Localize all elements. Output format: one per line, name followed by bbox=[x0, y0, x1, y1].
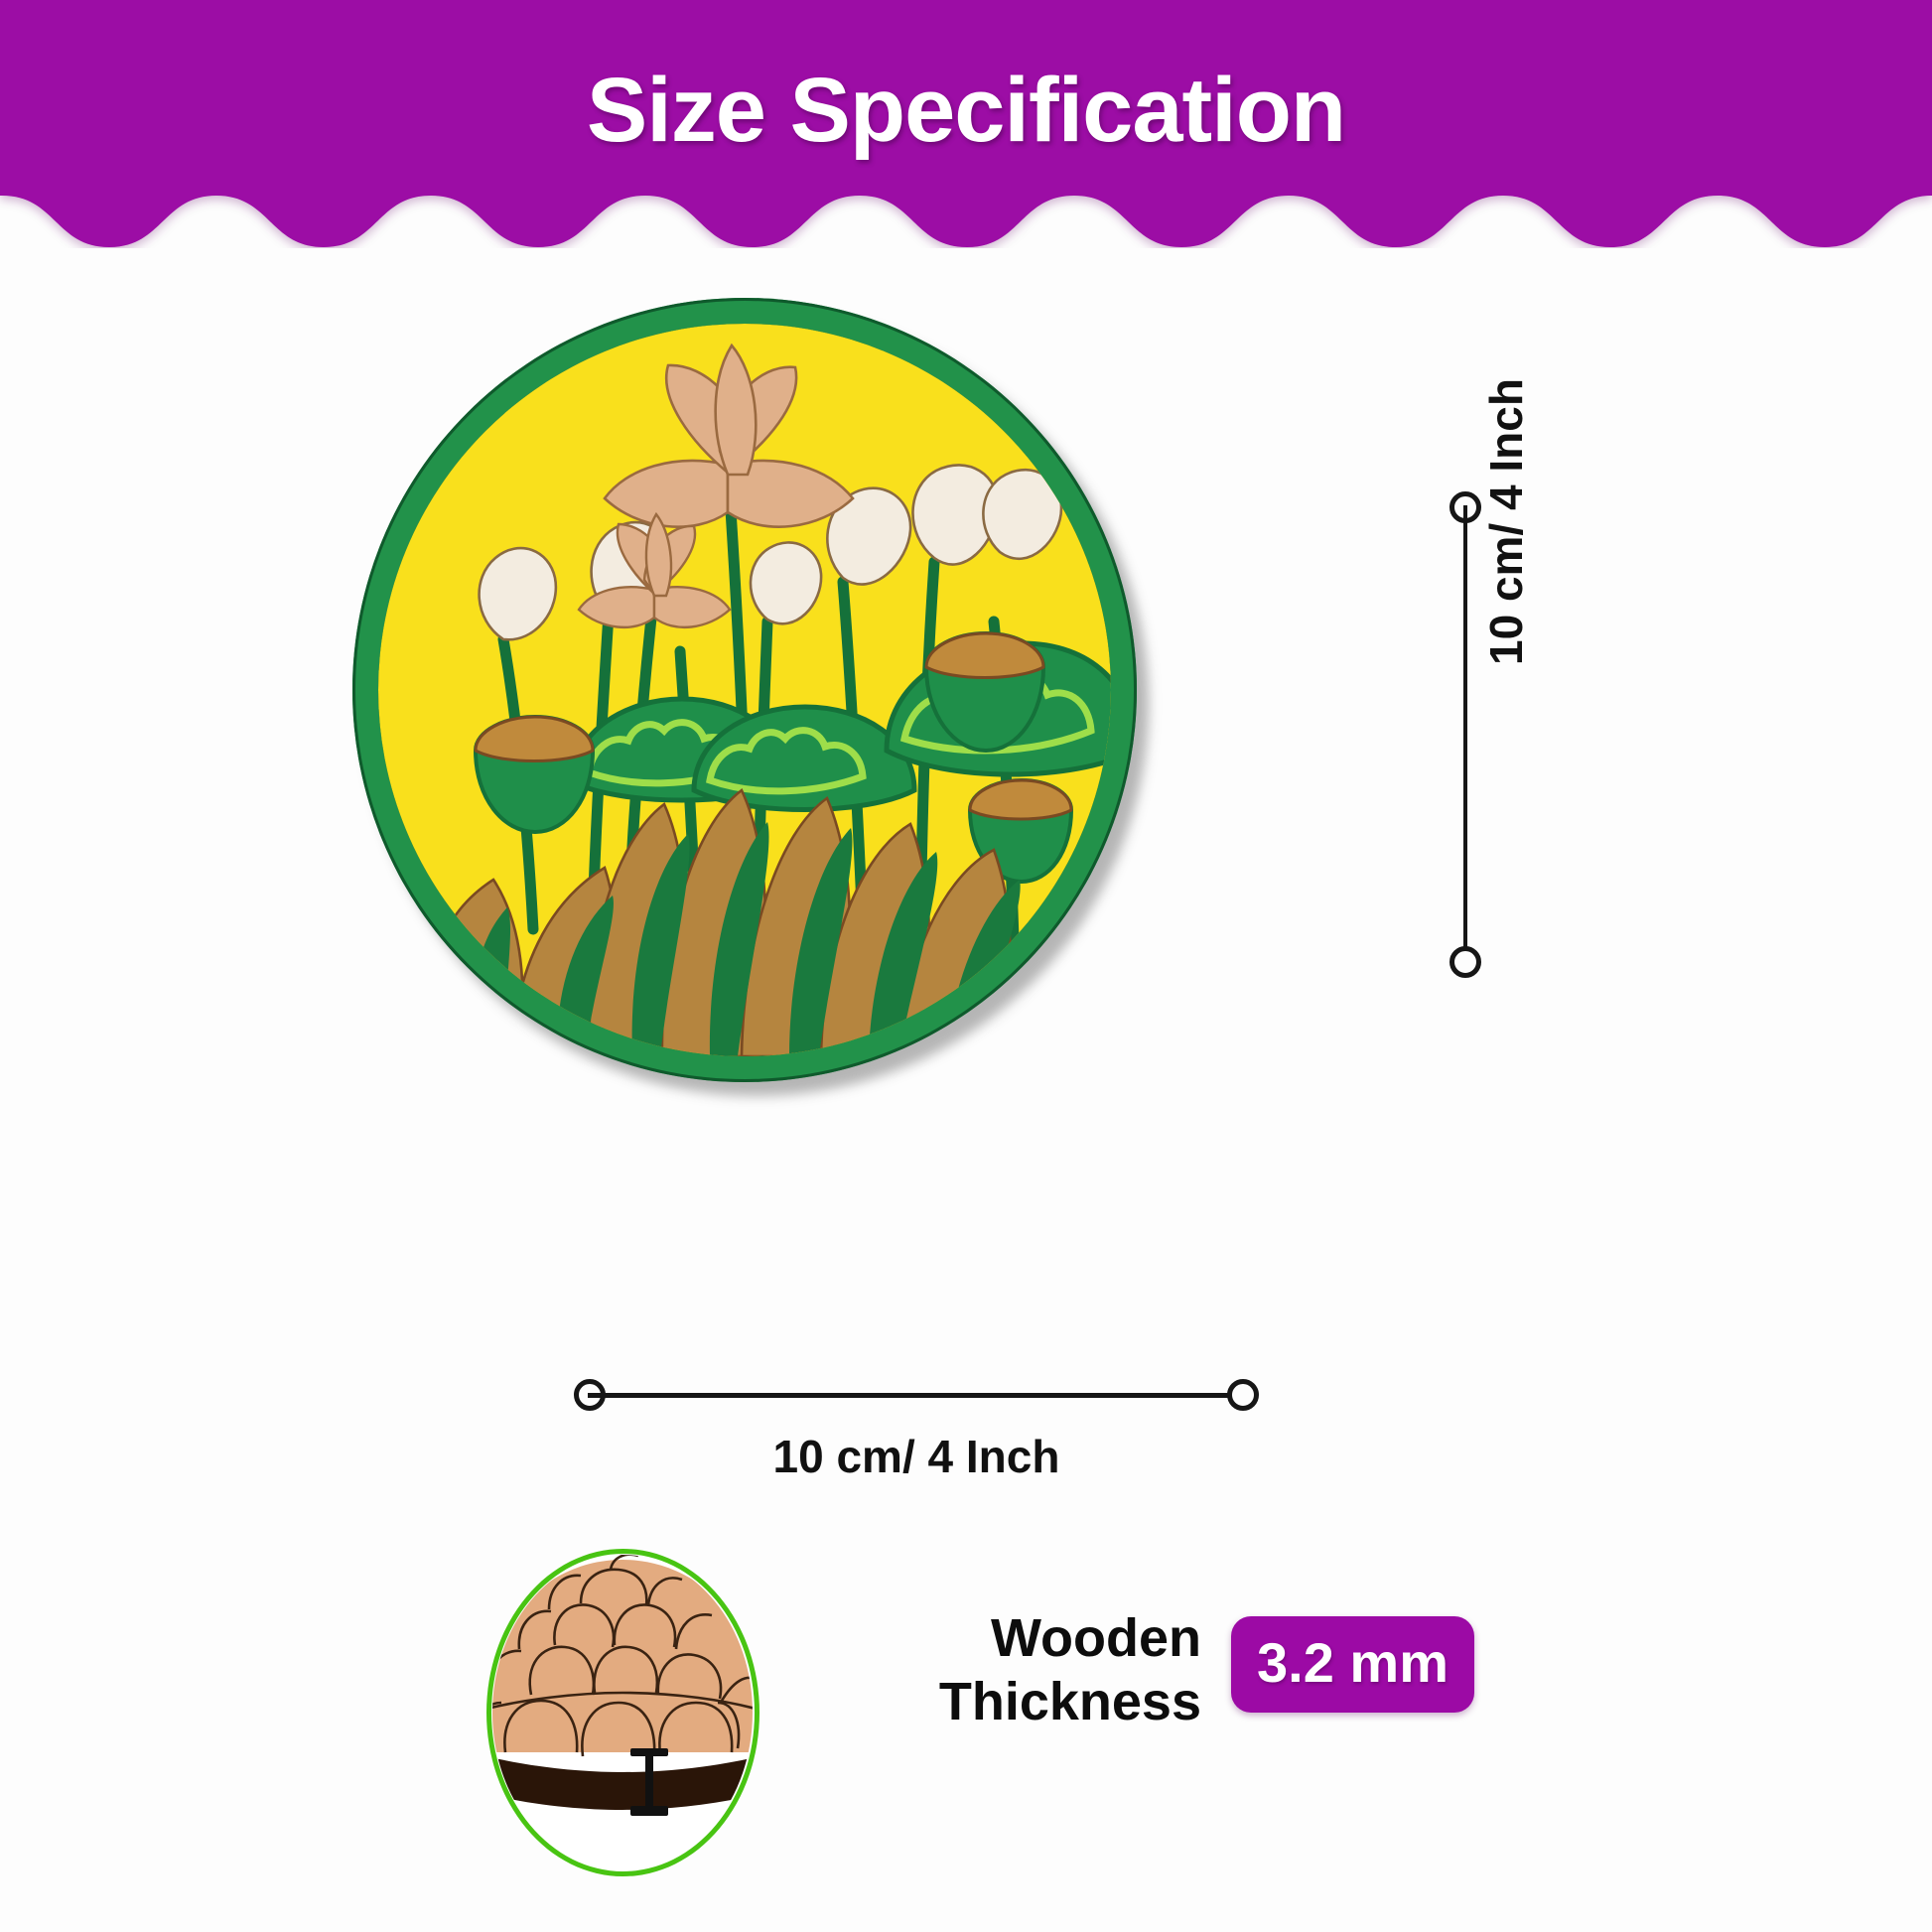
thickness-section: Wooden Thickness 3.2 mm bbox=[477, 1549, 1469, 1876]
width-dimension-line bbox=[574, 1376, 1259, 1416]
height-dim-bar bbox=[1463, 505, 1467, 964]
artwork-inner-face bbox=[378, 324, 1111, 1056]
thickness-value-text: 3.2 mm bbox=[1257, 1631, 1449, 1694]
width-dimension-label: 10 cm/ 4 Inch bbox=[574, 1430, 1259, 1483]
thickness-value-badge: 3.2 mm bbox=[1231, 1616, 1474, 1713]
height-dimension-line bbox=[1445, 491, 1484, 978]
height-dim-cap-bottom bbox=[1449, 946, 1481, 978]
size-specification-page: Size Specification bbox=[0, 0, 1932, 1932]
thickness-label: Wooden Thickness bbox=[804, 1606, 1201, 1733]
thickness-crosssection-illustration bbox=[491, 1554, 755, 1871]
header-wave-shape bbox=[0, 0, 1932, 248]
width-dim-cap-right bbox=[1227, 1379, 1259, 1411]
lotus-pond-illustration bbox=[378, 324, 1111, 1056]
thickness-label-line2: Thickness bbox=[804, 1670, 1201, 1733]
thickness-closeup-thumbnail bbox=[486, 1549, 759, 1876]
header-banner: Size Specification bbox=[0, 0, 1932, 248]
product-artwork bbox=[352, 298, 1137, 1082]
artwork-outer-rim bbox=[352, 298, 1137, 1082]
width-dim-bar bbox=[588, 1393, 1245, 1398]
thickness-label-line1: Wooden bbox=[804, 1606, 1201, 1670]
height-dimension-label: 10 cm/ 4 Inch bbox=[1479, 378, 1533, 665]
